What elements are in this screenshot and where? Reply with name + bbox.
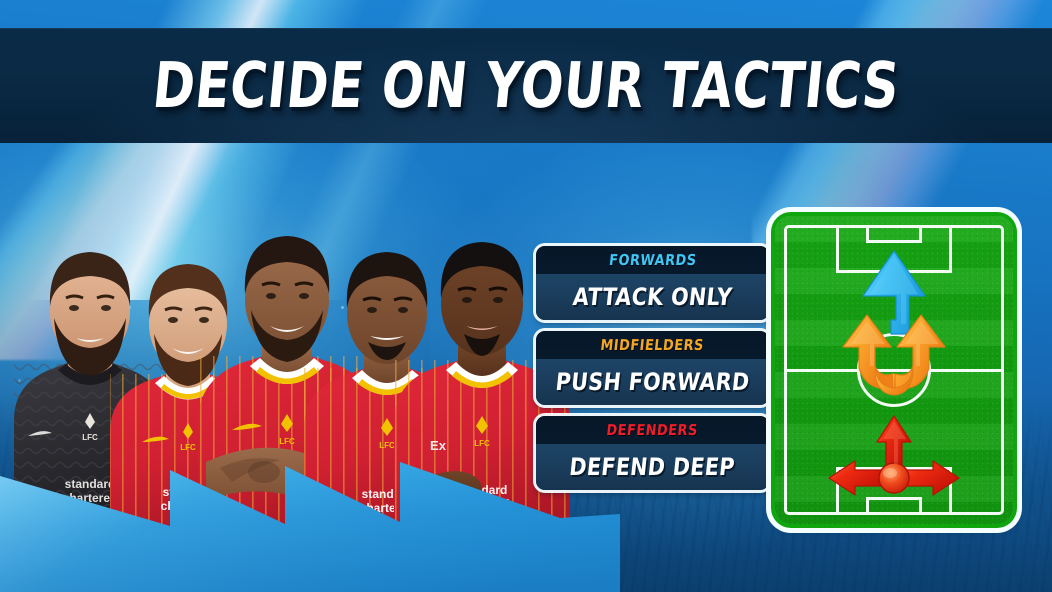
tactic-instruction-midfielders: PUSH FORWARD xyxy=(554,370,750,394)
tactic-card-forwards-body[interactable]: ATTACK ONLY xyxy=(536,274,769,320)
page-title: DECIDE ON YOUR TACTICS xyxy=(150,54,902,117)
tactic-role-label-defenders: DEFENDERS xyxy=(606,423,699,438)
tactics-card-list: FORWARDS ATTACK ONLY MIDFIELDERS PUSH FO… xyxy=(536,246,771,502)
tactic-card-midfielders-header: MIDFIELDERS xyxy=(536,331,769,359)
players-zigzag-cut xyxy=(0,440,620,592)
tactics-pitch[interactable] xyxy=(775,216,1013,524)
pitch-arrow-layer xyxy=(775,216,1013,524)
tactic-card-defenders-header: DEFENDERS xyxy=(536,416,769,444)
tactic-card-midfielders-body[interactable]: PUSH FORWARD xyxy=(536,359,769,405)
tactic-role-label-forwards: FORWARDS xyxy=(608,253,697,268)
tactic-card-defenders[interactable]: DEFENDERS DEFEND DEEP xyxy=(536,416,769,490)
tactic-role-label-midfielders: MIDFIELDERS xyxy=(600,338,705,353)
tactic-card-defenders-body[interactable]: DEFEND DEEP xyxy=(536,444,769,490)
tactic-card-forwards[interactable]: FORWARDS ATTACK ONLY xyxy=(536,246,769,320)
tactic-card-forwards-header: FORWARDS xyxy=(536,246,769,274)
promo-banner: LFC standard chartered LFC standard char… xyxy=(0,0,1052,592)
title-bar: DECIDE ON YOUR TACTICS xyxy=(0,28,1052,143)
tactic-instruction-defenders: DEFEND DEEP xyxy=(569,455,737,479)
tactic-card-midfielders[interactable]: MIDFIELDERS PUSH FORWARD xyxy=(536,331,769,405)
tactic-instruction-forwards: ATTACK ONLY xyxy=(572,285,734,309)
arrows-three-way-icon xyxy=(829,416,959,495)
